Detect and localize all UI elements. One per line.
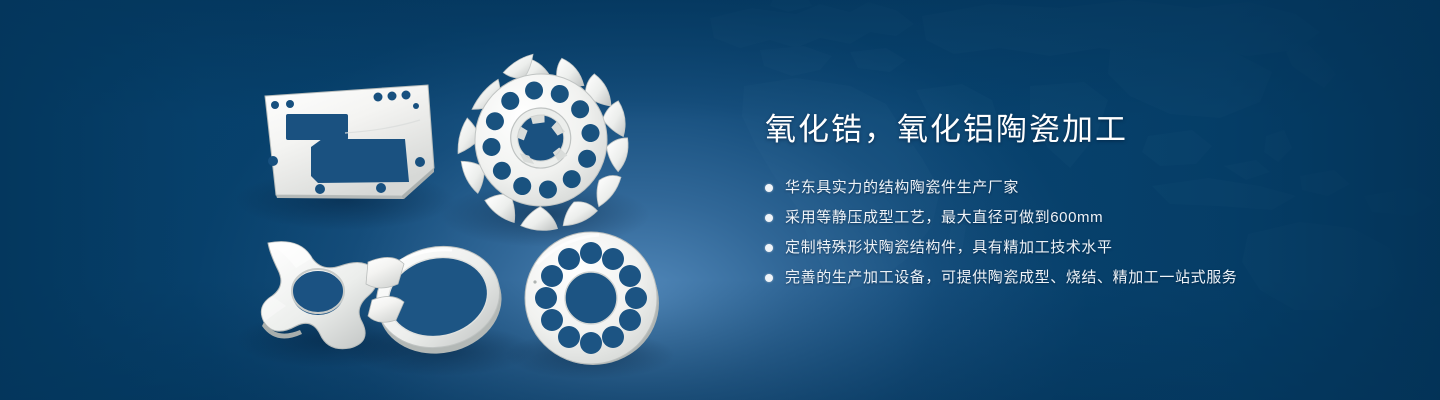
hero-banner: 氧化锆，氧化铝陶瓷加工 华东具实力的结构陶瓷件生产厂家 采用等静压成型工艺，最大… [0,0,1440,400]
list-item: 华东具实力的结构陶瓷件生产厂家 [765,176,1385,200]
list-item: 完善的生产加工设备，可提供陶瓷成型、烧结、精加工一站式服务 [765,266,1385,290]
banner-copy: 氧化锆，氧化铝陶瓷加工 华东具实力的结构陶瓷件生产厂家 采用等静压成型工艺，最大… [765,108,1385,296]
bullet-dot-icon [765,214,773,222]
feature-text: 完善的生产加工设备，可提供陶瓷成型、烧结、精加工一站式服务 [785,266,1237,290]
bullet-dot-icon [765,244,773,252]
banner-headline: 氧化锆，氧化铝陶瓷加工 [765,108,1385,152]
feature-text: 采用等静压成型工艺，最大直径可做到600mm [785,206,1103,230]
feature-text: 定制特殊形状陶瓷结构件，具有精加工技术水平 [785,236,1113,260]
bullet-dot-icon [765,274,773,282]
feature-text: 华东具实力的结构陶瓷件生产厂家 [785,176,1019,200]
list-item: 采用等静压成型工艺，最大直径可做到600mm [765,206,1385,230]
feature-list: 华东具实力的结构陶瓷件生产厂家 采用等静压成型工艺，最大直径可做到600mm 定… [765,176,1385,290]
bullet-dot-icon [765,184,773,192]
list-item: 定制特殊形状陶瓷结构件，具有精加工技术水平 [765,236,1385,260]
